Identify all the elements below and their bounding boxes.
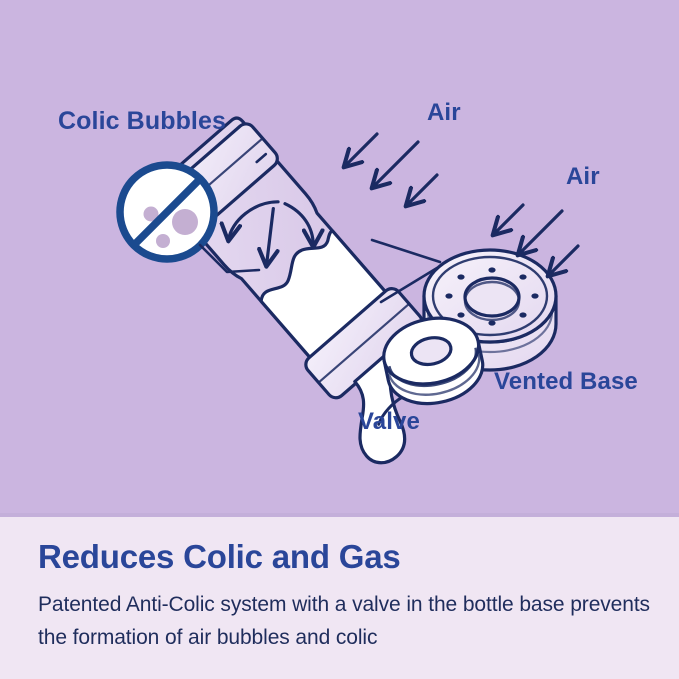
label-air-right: Air — [566, 163, 600, 191]
caption-title: Reduces Colic and Gas — [38, 538, 401, 576]
bottle-diagram — [0, 0, 679, 517]
air-arrows-neck — [345, 134, 437, 205]
label-air-top: Air — [427, 99, 461, 127]
label-colic-bubbles: Colic Bubbles — [58, 107, 226, 136]
badge-milk — [117, 188, 217, 264]
label-vented-base: Vented Base — [494, 368, 638, 396]
label-valve: Valve — [358, 408, 420, 436]
product-feature-card: Colic Bubbles Air Air Valve Vented Base … — [0, 0, 679, 679]
caption-body: Patented Anti-Colic system with a valve … — [38, 588, 653, 654]
